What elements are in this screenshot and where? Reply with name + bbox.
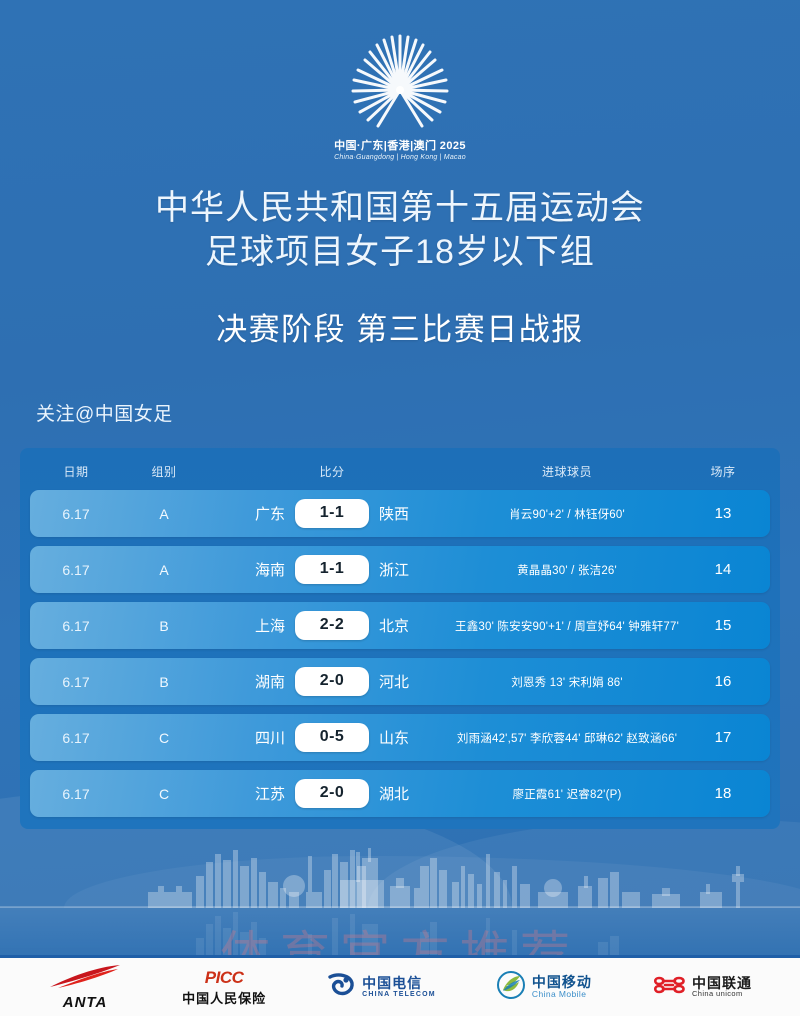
sponsor-china-unicom-sublabel: China unicom [692,990,752,998]
table-row[interactable]: 6.17C四川0-5山东刘雨涵42',57' 李欣蓉44' 邱琳62' 赵致涵6… [30,714,770,761]
cell-home-team: 湖南 [231,671,285,692]
fireworks-burst-icon [334,28,466,136]
sponsor-china-mobile-sublabel: China Mobile [532,990,592,999]
cell-home-team: 广东 [231,503,285,524]
sponsor-picc[interactable]: PICC 中国人民保险 [182,968,266,1007]
sponsor-anta[interactable]: ANTA [48,963,122,1011]
cell-score-pill[interactable]: 2-0 [295,667,369,696]
emblem-title-cn: 中国·广东|香港|澳门 2025 [0,137,800,153]
cell-away-team: 河北 [379,671,433,692]
column-header-date: 日期 [34,463,118,480]
sponsor-china-unicom[interactable]: 中国联通 China unicom [652,971,752,1004]
column-header-scorers: 进球球员 [454,463,680,480]
cell-match-no: 18 [680,785,766,802]
table-row[interactable]: 6.17B上海2-2北京王鑫30' 陈安安90'+1' / 周宣妤64' 钟雅轩… [30,602,770,649]
cell-scorers: 刘恩秀 13' 宋利娟 86' [454,674,680,690]
table-header-row: 日期 组别 比分 进球球员 场序 [30,454,770,488]
cell-match-no: 14 [680,561,766,578]
cell-group: B [118,674,210,690]
cell-date: 6.17 [34,562,118,578]
table-row[interactable]: 6.17C江苏2-0湖北廖正霞61' 迟睿82'(P)18 [30,770,770,817]
anta-swoosh-icon [48,963,122,994]
sponsor-picc-label: 中国人民保险 [182,988,266,1007]
cell-date: 6.17 [34,674,118,690]
china-unicom-logo-icon [652,971,686,1004]
title-line-2: 足球项目女子18岁以下组 [0,230,800,274]
cell-group: B [118,618,210,634]
follow-handle: 关注@中国女足 [36,399,173,426]
cell-date: 6.17 [34,786,118,802]
city-skyline-decoration [0,836,800,908]
table-row[interactable]: 6.17B湖南2-0河北刘恩秀 13' 宋利娟 86'16 [30,658,770,705]
column-header-match-no: 场序 [680,463,766,480]
title-line-3: 决赛阶段 第三比赛日战报 [0,304,800,349]
cell-scorers: 黄晶晶30' / 张洁26' [454,562,680,578]
cell-date: 6.17 [34,730,118,746]
cell-group: A [118,506,210,522]
cell-date: 6.17 [34,618,118,634]
cell-score-pill[interactable]: 1-1 [295,499,369,528]
cell-away-team: 北京 [379,615,433,636]
games-emblem: 中国·广东|香港|澳门 2025 China·Guangdong | Hong … [0,28,800,168]
cell-match-no: 17 [680,729,766,746]
cell-home-team: 江苏 [231,783,285,804]
cell-score-pill[interactable]: 0-5 [295,723,369,752]
cell-home-team: 海南 [231,559,285,580]
sponsor-china-telecom[interactable]: 中国电信 CHINA TELECOM [326,971,436,1004]
cell-group: A [118,562,210,578]
cell-away-team: 山东 [379,727,433,748]
cell-score-pill[interactable]: 2-0 [295,779,369,808]
cell-match-no: 15 [680,617,766,634]
cell-away-team: 湖北 [379,783,433,804]
cell-away-team: 浙江 [379,559,433,580]
sponsor-china-mobile[interactable]: 中国移动 China Mobile [496,970,592,1005]
cell-scorers: 王鑫30' 陈安安90'+1' / 周宣妤64' 钟雅轩77' [454,618,680,634]
cell-score-pill[interactable]: 2-2 [295,611,369,640]
cell-away-team: 陕西 [379,503,433,524]
sponsor-anta-label: ANTA [63,994,108,1011]
cell-group: C [118,786,210,802]
cell-score-pill[interactable]: 1-1 [295,555,369,584]
cell-date: 6.17 [34,506,118,522]
table-row[interactable]: 6.17A广东1-1陕西肖云90'+2' / 林钰伢60'13 [30,490,770,537]
china-mobile-logo-icon [496,970,526,1005]
sponsor-china-mobile-label: 中国移动 [532,975,592,990]
emblem-title-en: China·Guangdong | Hong Kong | Macao [0,154,800,161]
poster-canvas: 中国·广东|香港|澳门 2025 China·Guangdong | Hong … [0,0,800,1016]
column-header-group: 组别 [118,463,210,480]
sponsor-china-telecom-sublabel: CHINA TELECOM [362,991,436,998]
sponsor-china-telecom-label: 中国电信 [362,976,436,991]
china-telecom-logo-icon [326,971,356,1004]
cell-home-team: 四川 [231,727,285,748]
sponsor-china-unicom-label: 中国联通 [692,976,752,991]
column-header-score: 比分 [210,463,454,480]
table-body: 6.17A广东1-1陕西肖云90'+2' / 林钰伢60'136.17A海南1-… [30,490,770,817]
results-table: 日期 组别 比分 进球球员 场序 6.17A广东1-1陕西肖云90'+2' / … [20,448,780,829]
cell-scorers: 肖云90'+2' / 林钰伢60' [454,506,680,522]
cell-group: C [118,730,210,746]
picc-logo-icon: PICC [205,968,244,988]
cell-scorers: 廖正霞61' 迟睿82'(P) [454,786,680,802]
poster-titles: 中华人民共和国第十五届运动会 足球项目女子18岁以下组 决赛阶段 第三比赛日战报 [0,186,800,349]
cell-scorers: 刘雨涵42',57' 李欣蓉44' 邱琳62' 赵致涵66' [454,730,680,746]
cell-home-team: 上海 [231,615,285,636]
cell-match-no: 13 [680,505,766,522]
cell-match-no: 16 [680,673,766,690]
title-line-1: 中华人民共和国第十五届运动会 [0,186,800,230]
table-row[interactable]: 6.17A海南1-1浙江黄晶晶30' / 张洁26'14 [30,546,770,593]
sponsor-bar: ANTA PICC 中国人民保险 中国电信 CHINA TELECOM [0,955,800,1016]
